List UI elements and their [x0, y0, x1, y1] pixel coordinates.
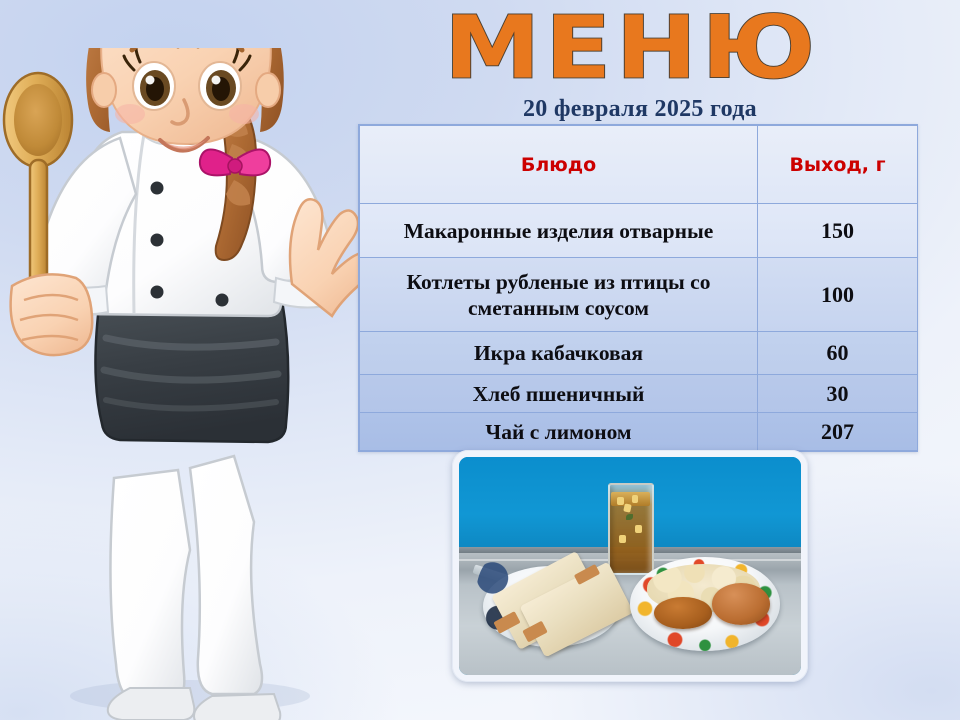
chef-apron	[95, 298, 288, 442]
chef-jacket-button	[216, 294, 229, 307]
cutlet	[712, 583, 770, 624]
dish-weight: 150	[758, 204, 918, 258]
column-header-dish: Блюдо	[360, 126, 758, 204]
dish-name: Хлеб пшеничный	[360, 375, 758, 413]
table-row: Хлеб пшеничный 30	[360, 375, 918, 413]
dish-name: Котлеты рубленые из птицы со сметанным с…	[360, 258, 758, 332]
dish-weight: 100	[758, 258, 918, 332]
lemon-slice	[617, 497, 624, 505]
lemon-slice	[632, 495, 639, 503]
dish-weight: 60	[758, 332, 918, 375]
chef-left-cheek	[115, 104, 145, 124]
chef-left-hand	[11, 274, 93, 355]
chef-right-cheek	[229, 104, 259, 124]
chef-illustration	[0, 48, 380, 720]
menu-table-container: Блюдо Выход, г Макаронные изделия отварн…	[358, 124, 918, 452]
menu-slide: МЕНЮ 20 февраля 2025 года Блюдо Выход, г…	[0, 0, 960, 720]
lemon-slice	[619, 535, 626, 543]
dish-name: Икра кабачковая	[360, 332, 758, 375]
chef-left-ear	[92, 73, 116, 107]
cutlet-with-sauce	[654, 597, 712, 630]
dish-weight: 207	[758, 413, 918, 451]
dish-weight: 30	[758, 375, 918, 413]
table-row: Чай с лимоном 207	[360, 413, 918, 451]
menu-date: 20 февраля 2025 года	[360, 96, 920, 122]
lunch-photo-frame	[452, 450, 808, 682]
dish-name: Чай с лимоном	[360, 413, 758, 451]
chef-right-ear	[256, 73, 280, 107]
school-lunch-tray-photo	[459, 457, 801, 675]
menu-table: Блюдо Выход, г Макаронные изделия отварн…	[359, 125, 918, 451]
chef-left-leg	[110, 470, 190, 700]
chef-left-shoe	[108, 688, 195, 720]
menu-table-header-row: Блюдо Выход, г	[360, 126, 918, 204]
chef-jacket-button	[151, 286, 164, 299]
column-header-weight: Выход, г	[758, 126, 918, 204]
chef-jacket-button	[151, 234, 164, 247]
chef-jacket-button	[151, 182, 164, 195]
table-row: Макаронные изделия отварные 150	[360, 204, 918, 258]
chef-right-shoe	[194, 694, 280, 720]
chef-right-leg	[190, 456, 262, 694]
table-row: Котлеты рубленые из птицы со сметанным с…	[360, 258, 918, 332]
table-row: Икра кабачковая 60	[360, 332, 918, 375]
dish-name: Макаронные изделия отварные	[360, 204, 758, 258]
glass-of-tea-with-lemon	[608, 483, 654, 575]
page-title: МЕНЮ	[302, 3, 960, 96]
lemon-slice	[635, 525, 642, 533]
lemon-slice	[623, 504, 631, 513]
mint-leaf	[626, 514, 634, 520]
